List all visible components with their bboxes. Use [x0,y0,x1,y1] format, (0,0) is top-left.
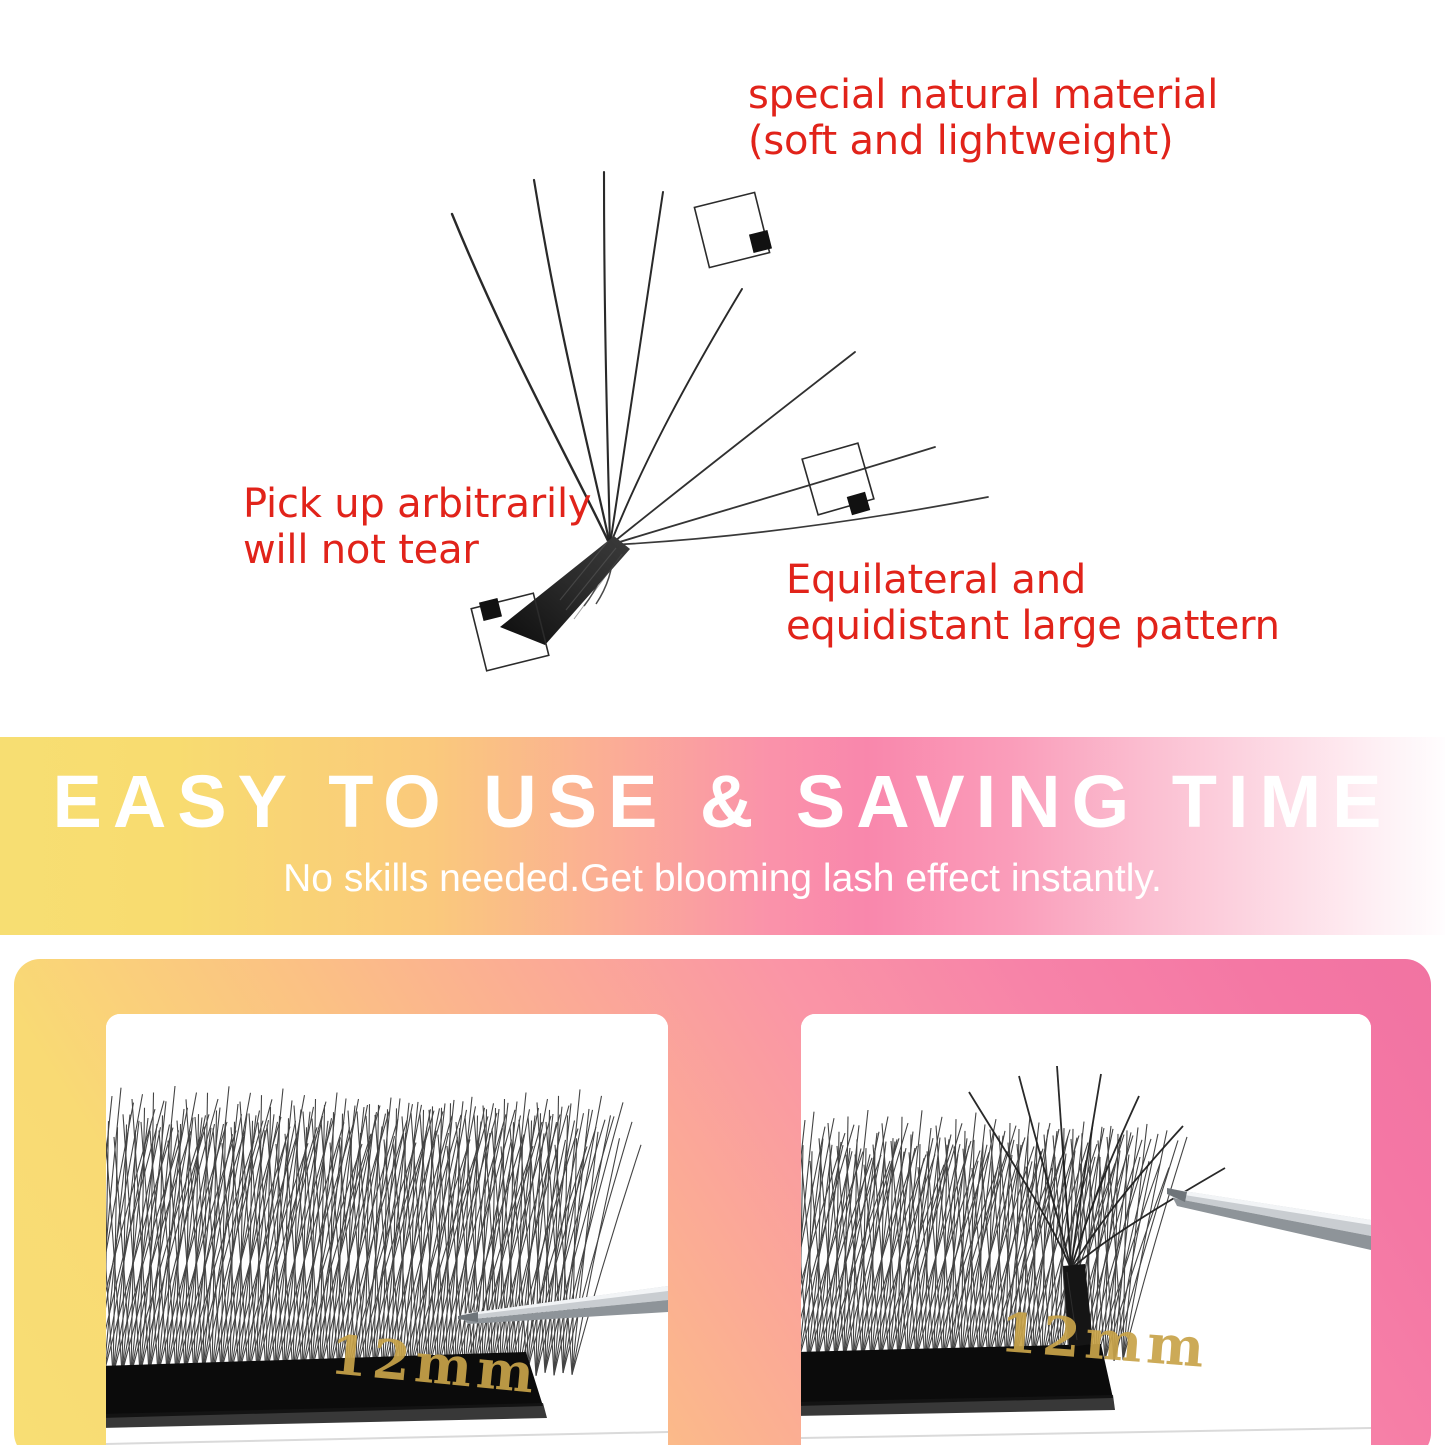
headline-banner: EASY TO USE & SAVING TIME No skills need… [0,737,1445,935]
callout-equidistant: Equilateral and equidistant large patter… [786,557,1280,650]
lash-fan-pickup-image [801,1014,1371,1445]
banner-title: EASY TO USE & SAVING TIME [0,759,1445,844]
marker-top-right-icon [694,192,772,267]
banner-subtitle: No skills needed.Get blooming lash effec… [0,857,1445,901]
infographic-page: special natural material (soft and light… [0,0,1445,1445]
feature-diagram-section: special natural material (soft and light… [0,0,1445,737]
photo-lash-fan-pickup [801,1014,1371,1445]
product-photo-gallery [0,935,1445,1445]
marker-mid-right-icon [802,443,874,515]
lash-tray-image [106,1014,668,1445]
photo-lash-tray [106,1014,668,1445]
callout-material: special natural material (soft and light… [748,72,1218,165]
gallery-frame [14,959,1431,1445]
callout-pickup: Pick up arbitrarily will not tear [243,481,591,574]
